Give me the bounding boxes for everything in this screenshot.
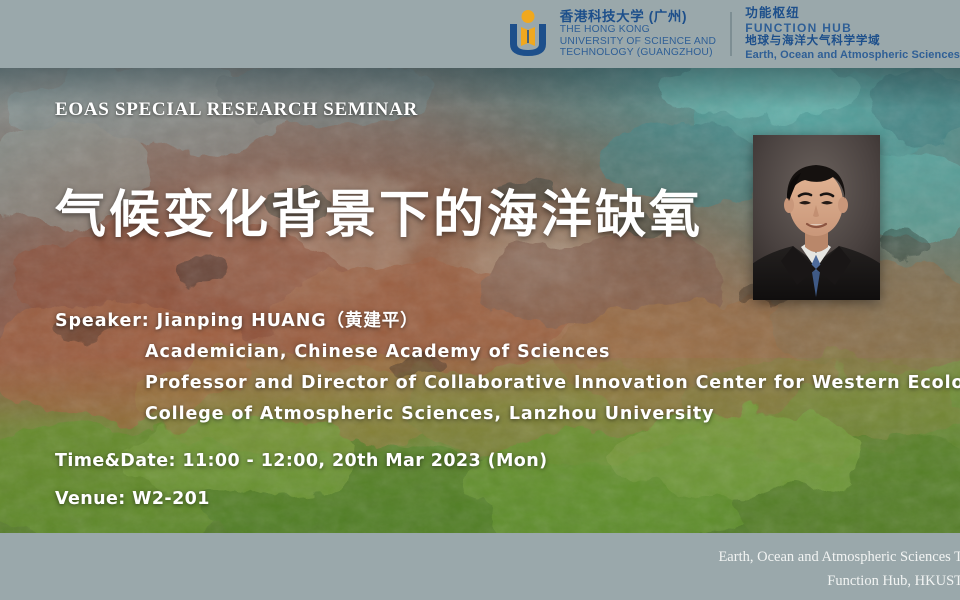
page-title: 气候变化背景下的海洋缺氧 (55, 190, 703, 241)
header-bar: 香港科技大学 (广州) THE HONG KONG UNIVERSITY OF … (0, 0, 960, 68)
footer-line-1: Earth, Ocean and Atmospheric Sciences Th… (718, 545, 960, 569)
hkust-logo-icon (505, 9, 551, 59)
speaker-block: Speaker: Jianping HUANG（黄建平） Academician… (55, 306, 915, 430)
logo-arch-icon (507, 24, 549, 58)
thrust-name-en: Earth, Ocean and Atmospheric Sciences (745, 49, 960, 62)
logo-sun-icon (521, 10, 534, 23)
seminar-kicker: EOAS SPECIAL RESEARCH SEMINAR (55, 99, 418, 121)
speaker-affiliation-3: College of Atmospheric Sciences, Lanzhou… (55, 399, 915, 430)
venue: Venue: W2-201 (55, 480, 547, 518)
university-name-en-3: TECHNOLOGY (GUANGZHOU) (560, 47, 716, 59)
speaker-affiliation-1: Academician, Chinese Academy of Sciences (55, 337, 915, 368)
footer-organizer: Earth, Ocean and Atmospheric Sciences Th… (718, 545, 960, 593)
thrust-name-cn: 地球与海洋大气科学学域 (745, 35, 960, 49)
speaker-affiliation-2: Professor and Director of Collaborative … (55, 368, 915, 399)
function-hub-name-en: FUNCTION HUB (745, 21, 960, 35)
footer-line-2: Function Hub, HKUST(GZ) (718, 569, 960, 593)
seminar-poster: 香港科技大学 (广州) THE HONG KONG UNIVERSITY OF … (0, 0, 960, 600)
university-name-en-1: THE HONG KONG (560, 24, 716, 36)
logistics-block: Time&Date: 11:00 - 12:00, 20th Mar 2023 … (55, 442, 547, 518)
footer-bar: Earth, Ocean and Atmospheric Sciences Th… (0, 533, 960, 600)
speaker-name: Speaker: Jianping HUANG（黄建平） (55, 306, 915, 337)
header-logo-group: 香港科技大学 (广州) THE HONG KONG UNIVERSITY OF … (505, 6, 960, 62)
university-name-block: 香港科技大学 (广州) THE HONG KONG UNIVERSITY OF … (560, 9, 728, 59)
function-hub-block: 功能枢纽 FUNCTION HUB 地球与海洋大气科学学域 Earth, Oce… (745, 6, 960, 61)
function-hub-name-cn: 功能枢纽 (745, 6, 960, 21)
header-divider (730, 12, 732, 56)
university-name-cn: 香港科技大学 (广州) (560, 9, 716, 24)
time-date: Time&Date: 11:00 - 12:00, 20th Mar 2023 … (55, 442, 547, 480)
university-name-en-2: UNIVERSITY OF SCIENCE AND (560, 36, 716, 48)
speaker-portrait (753, 135, 880, 300)
